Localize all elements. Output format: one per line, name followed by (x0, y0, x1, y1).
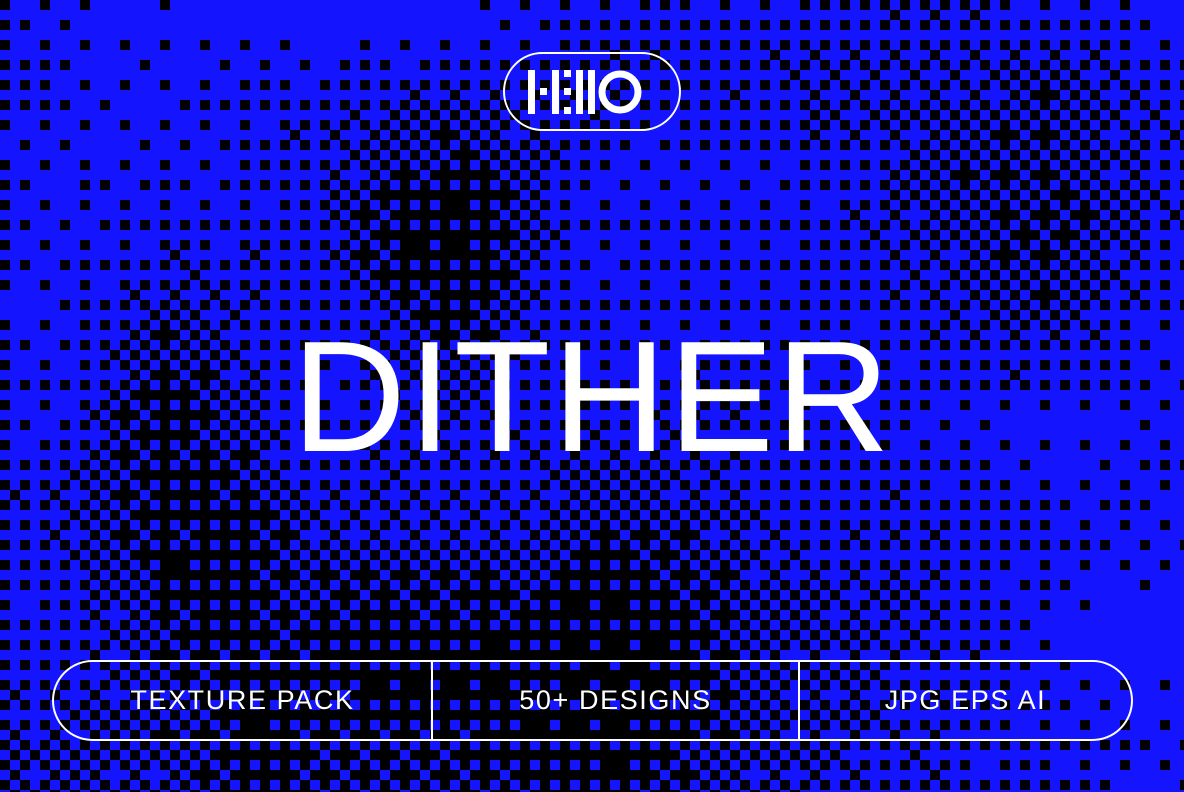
feature-label: TEXTURE PACK (130, 685, 354, 716)
feature-item-designs-count[interactable]: 50+ DESIGNS (431, 662, 800, 739)
hello-logo-icon (528, 70, 656, 114)
feature-item-file-formats[interactable]: JPG EPS AI (800, 662, 1131, 739)
feature-bar: TEXTURE PACK 50+ DESIGNS JPG EPS AI (52, 660, 1133, 741)
feature-item-texture-pack[interactable]: TEXTURE PACK (54, 662, 431, 739)
feature-label: 50+ DESIGNS (519, 685, 711, 716)
logo-badge[interactable]: HELLO (503, 52, 681, 131)
feature-label: JPG EPS AI (885, 685, 1047, 716)
page-title: DITHER (0, 318, 1184, 476)
poster-canvas: HELLO DITHER TEXTURE PACK 50+ DESIGNS JP… (0, 0, 1184, 792)
